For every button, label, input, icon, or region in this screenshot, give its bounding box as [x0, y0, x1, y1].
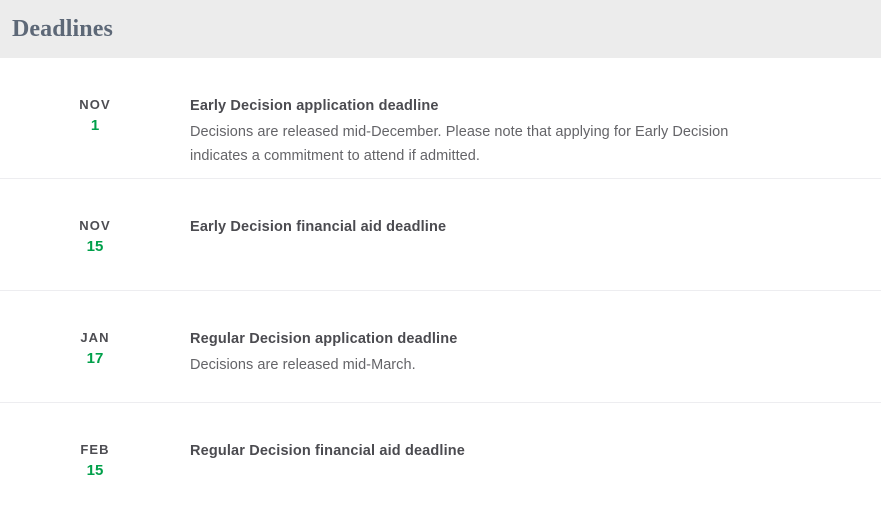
deadline-content: Early Decision financial aid deadline [190, 216, 881, 241]
deadlines-panel: Deadlines NOV 1 Early Decision applicati… [0, 0, 881, 526]
deadline-description: Decisions are released mid-December. Ple… [190, 120, 790, 168]
deadline-date: FEB 15 [0, 440, 190, 482]
deadline-content: Regular Decision application deadline De… [190, 328, 881, 377]
deadline-description: Decisions are released mid-March. [190, 353, 790, 377]
panel-header: Deadlines [0, 0, 881, 58]
list-item: NOV 1 Early Decision application deadlin… [0, 58, 881, 179]
deadline-date: NOV 15 [0, 216, 190, 258]
deadline-title: Regular Decision application deadline [190, 329, 836, 349]
deadline-content: Regular Decision financial aid deadline [190, 440, 881, 465]
list-item: JAN 17 Regular Decision application dead… [0, 291, 881, 403]
deadline-day: 1 [0, 114, 190, 137]
list-item: FEB 15 Regular Decision financial aid de… [0, 403, 881, 515]
deadline-month: NOV [0, 95, 190, 114]
deadline-date: NOV 1 [0, 95, 190, 137]
deadline-content: Early Decision application deadline Deci… [190, 95, 881, 168]
deadline-title: Early Decision financial aid deadline [190, 217, 836, 237]
deadline-title: Regular Decision financial aid deadline [190, 441, 836, 461]
deadline-month: FEB [0, 440, 190, 459]
deadline-day: 17 [0, 347, 190, 370]
deadline-day: 15 [0, 235, 190, 258]
deadline-day: 15 [0, 459, 190, 482]
deadline-month: JAN [0, 328, 190, 347]
deadline-month: NOV [0, 216, 190, 235]
list-item: NOV 15 Early Decision financial aid dead… [0, 179, 881, 291]
deadline-title: Early Decision application deadline [190, 96, 836, 116]
deadline-date: JAN 17 [0, 328, 190, 370]
deadline-list: NOV 1 Early Decision application deadlin… [0, 58, 881, 515]
page-title: Deadlines [12, 17, 113, 41]
